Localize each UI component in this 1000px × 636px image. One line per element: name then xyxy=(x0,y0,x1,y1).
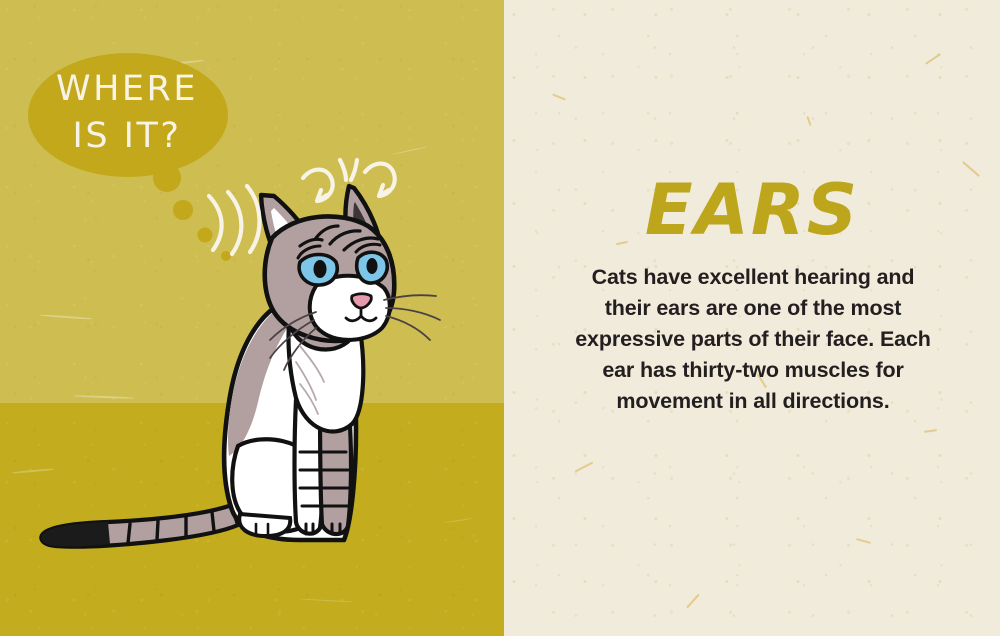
cat-nose xyxy=(352,294,372,308)
paper-fleck xyxy=(925,53,941,65)
illustration-panel: WHERE IS IT? xyxy=(0,0,504,636)
body-line: movement in all directions. xyxy=(558,386,948,417)
thought-bubble-line-2: IS IT? xyxy=(38,113,216,160)
cat-eye-right xyxy=(357,252,387,283)
body-line: expressive parts of their face. Each xyxy=(558,324,948,355)
motion-marks-group xyxy=(209,186,259,254)
body-paragraph: Cats have excellent hearing and their ea… xyxy=(558,262,948,417)
cat-pupil-right xyxy=(367,258,378,274)
cat-rear-paw xyxy=(239,514,290,536)
cat-tail-tip xyxy=(41,522,110,546)
motion-tick-1 xyxy=(340,160,346,180)
paper-fleck xyxy=(806,116,811,126)
paper-fleck xyxy=(856,538,871,544)
paper-fleck xyxy=(686,594,700,609)
thought-bubble-dot-tiny xyxy=(221,251,231,261)
body-line: ear has thirty-two muscles for xyxy=(558,355,948,386)
thought-bubble-line-1: WHERE xyxy=(56,69,198,109)
motion-arc-2 xyxy=(228,192,241,254)
paper-fleck xyxy=(552,93,566,100)
cat-eye-left xyxy=(299,255,337,286)
thought-bubble-dot-medium xyxy=(173,200,193,220)
thought-bubble-dot-small xyxy=(198,228,213,243)
paper-fleck xyxy=(924,429,937,433)
body-line: their ears are one of the most xyxy=(558,293,948,324)
motion-tick-2 xyxy=(351,160,357,180)
thought-bubble-dot-large xyxy=(153,164,181,192)
paper-fleck xyxy=(575,462,594,473)
page-title: EARS xyxy=(504,175,1000,245)
fact-spread-page: WHERE IS IT? EARS Cats have excellent he… xyxy=(0,0,1000,636)
thought-bubble-text: WHERE IS IT? xyxy=(38,66,216,160)
motion-arc-3 xyxy=(209,196,222,250)
content-panel: EARS Cats have excellent hearing and the… xyxy=(504,0,1000,636)
cat-pupil-left xyxy=(314,260,327,278)
motion-arc-1 xyxy=(247,186,259,252)
body-line: Cats have excellent hearing and xyxy=(558,262,948,293)
